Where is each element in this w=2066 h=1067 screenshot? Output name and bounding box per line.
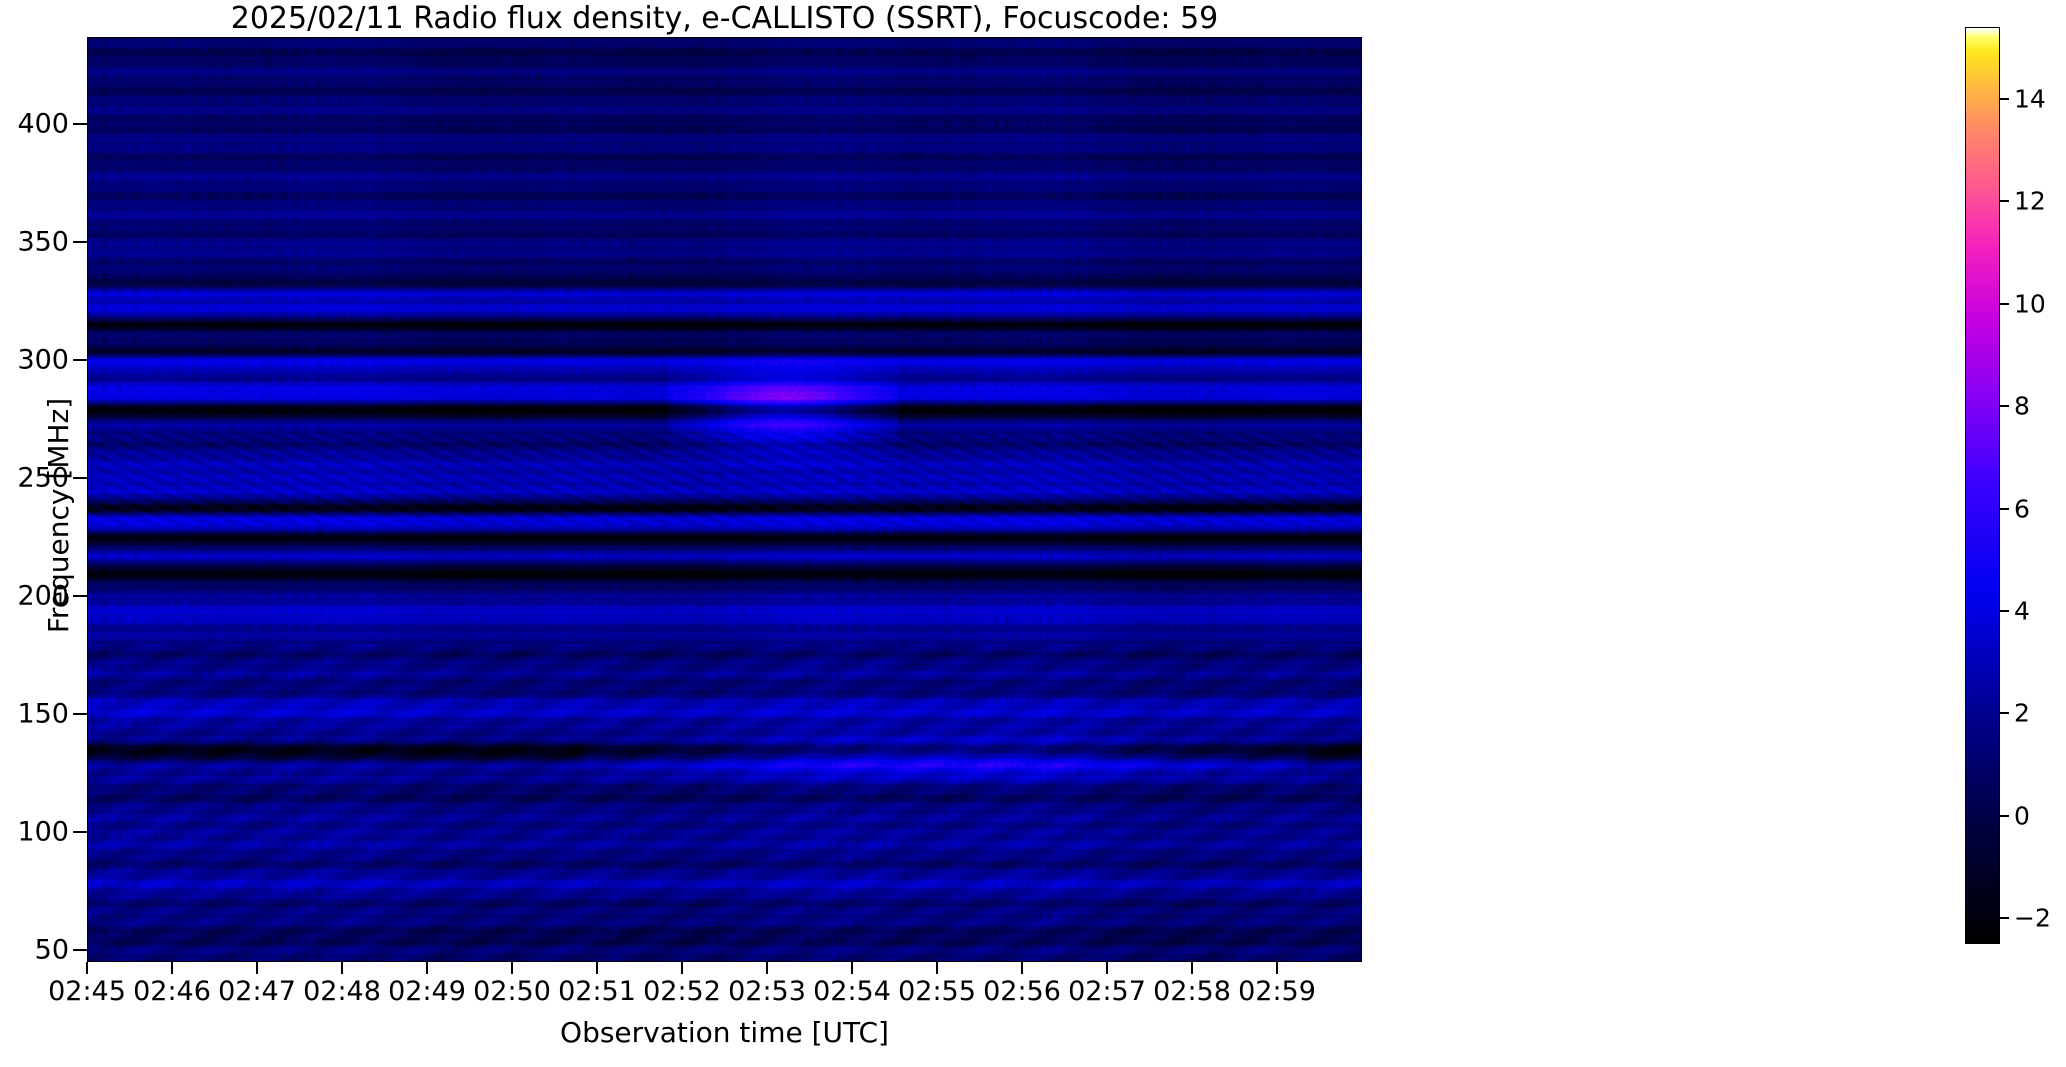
x-tick-label: 02:53 [728, 976, 806, 1007]
x-tick-mark [596, 962, 598, 974]
x-tick-label: 02:52 [643, 976, 721, 1007]
x-tick-label: 02:48 [303, 976, 381, 1007]
x-tick-mark [426, 962, 428, 974]
x-axis-title: Observation time [UTC] [87, 1016, 1362, 1049]
y-tick-label: 100 [17, 817, 69, 848]
colorbar-ticks: 14121086420−2 [2000, 27, 2066, 944]
y-tick-mark [73, 123, 87, 125]
colorbar-tick-label: 2 [2014, 699, 2030, 728]
x-tick-mark [1021, 962, 1023, 974]
x-tick-label: 02:50 [473, 976, 551, 1007]
x-tick-label: 02:55 [898, 976, 976, 1007]
colorbar-tick-mark [2000, 815, 2009, 817]
x-tick-label: 02:56 [983, 976, 1061, 1007]
y-axis-ticks: 40035030025020015010050 [0, 37, 87, 962]
x-tick-mark [766, 962, 768, 974]
x-tick-mark [1276, 962, 1278, 974]
x-tick-mark [681, 962, 683, 974]
colorbar-tick-label: −2 [2014, 904, 2051, 933]
colorbar-tick-mark [2000, 712, 2009, 714]
x-tick-label: 02:59 [1238, 976, 1316, 1007]
y-tick-mark [73, 595, 87, 597]
y-tick-mark [73, 241, 87, 243]
x-tick-mark [1191, 962, 1193, 974]
y-tick-label: 150 [17, 699, 69, 730]
page-title: 2025/02/11 Radio flux density, e-CALLIST… [87, 2, 1362, 36]
colorbar-tick-label: 8 [2014, 392, 2030, 421]
x-tick-label: 02:45 [48, 976, 126, 1007]
x-tick-mark [511, 962, 513, 974]
x-tick-label: 02:46 [133, 976, 211, 1007]
x-tick-label: 02:54 [813, 976, 891, 1007]
colorbar-tick-mark [2000, 610, 2009, 612]
colorbar-gradient [1966, 28, 1999, 943]
x-tick-label: 02:57 [1068, 976, 1146, 1007]
y-tick-mark [73, 949, 87, 951]
colorbar-tick-mark [2000, 508, 2009, 510]
colorbar-tick-label: 0 [2014, 801, 2030, 830]
y-tick-label: 350 [17, 227, 69, 258]
x-tick-mark [171, 962, 173, 974]
y-tick-label: 300 [17, 345, 69, 376]
y-tick-label: 50 [35, 935, 69, 966]
colorbar [1965, 27, 2000, 944]
x-tick-label: 02:47 [218, 976, 296, 1007]
colorbar-tick-mark [2000, 98, 2009, 100]
x-tick-mark [256, 962, 258, 974]
x-tick-label: 02:58 [1153, 976, 1231, 1007]
y-tick-label: 200 [17, 581, 69, 612]
y-tick-label: 250 [17, 463, 69, 494]
y-tick-mark [73, 831, 87, 833]
colorbar-tick-label: 14 [2014, 84, 2046, 113]
colorbar-tick-label: 6 [2014, 494, 2030, 523]
y-tick-mark [73, 477, 87, 479]
colorbar-tick-mark [2000, 303, 2009, 305]
colorbar-tick-label: 12 [2014, 187, 2046, 216]
spectrogram-figure: 2025/02/11 Radio flux density, e-CALLIST… [0, 0, 2066, 1067]
y-tick-label: 400 [17, 109, 69, 140]
x-tick-mark [341, 962, 343, 974]
colorbar-tick-mark [2000, 917, 2009, 919]
x-tick-mark [1106, 962, 1108, 974]
x-tick-label: 02:49 [388, 976, 466, 1007]
colorbar-tick-mark [2000, 200, 2009, 202]
x-tick-mark [936, 962, 938, 974]
y-tick-mark [73, 713, 87, 715]
spectrogram-image [88, 38, 1362, 962]
colorbar-tick-mark [2000, 405, 2009, 407]
x-tick-label: 02:51 [558, 976, 636, 1007]
x-tick-mark [851, 962, 853, 974]
x-tick-mark [86, 962, 88, 974]
colorbar-tick-label: 4 [2014, 597, 2030, 626]
spectrogram-plot-area [87, 37, 1362, 962]
colorbar-tick-label: 10 [2014, 289, 2046, 318]
x-axis-ticks: 02:4502:4602:4702:4802:4902:5002:5102:52… [87, 962, 1362, 1022]
y-tick-mark [73, 359, 87, 361]
